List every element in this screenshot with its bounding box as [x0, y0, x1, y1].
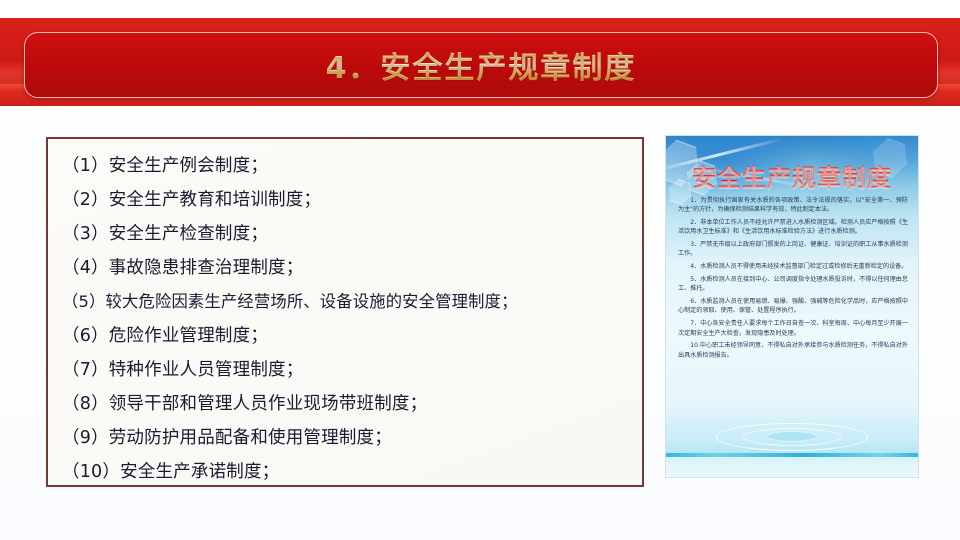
list-item: （9）劳动防护用品配备和使用管理制度； [62, 421, 642, 455]
list-item: （3）安全生产检查制度； [62, 217, 642, 251]
ripple-ring [767, 431, 817, 442]
slide-canvas: 4．安全生产规章制度 （1）安全生产例会制度； （2）安全生产教育和培训制度； … [0, 0, 960, 540]
page-title: 4．安全生产规章制度 [326, 43, 637, 87]
header-title-plate: 4．安全生产规章制度 [24, 32, 938, 98]
poster-body-text: 1．为贯彻执行国家有关水质的各项政策、法令法规的落实，以"安全第一、预防为主"的… [678, 196, 908, 363]
list-item: （1）安全生产例会制度； [62, 149, 642, 183]
poster-paragraph: 2．非本单位工作人员不经允许严禁进入水质检测区域。检测人员应严格按照《生活饮用水… [678, 218, 908, 237]
list-item: （10）安全生产承诺制度； [62, 455, 642, 489]
content-box: （1）安全生产例会制度； （2）安全生产教育和培训制度； （3）安全生产检查制度… [46, 137, 644, 487]
poster-title: 安全生产规章制度 [666, 158, 918, 193]
policy-list: （1）安全生产例会制度； （2）安全生产教育和培训制度； （3）安全生产检查制度… [48, 139, 642, 489]
list-item: （8）领导干部和管理人员作业现场带班制度； [62, 387, 642, 421]
poster-paragraph: 5．水质检测人员在接到中心、公司调度指令处理水质投诉时，不得以任何理由怠工、推托… [678, 275, 908, 294]
list-item: （2）安全生产教育和培训制度； [62, 183, 642, 217]
poster-paragraph: 3．严禁无市级以上政府部门颁发的上岗证、健康证、培训证的职工从事水质检测工作。 [678, 240, 908, 259]
poster-paragraph: 10.中心职工未经领导同意，不得私自对外承接参与水质检测任务，不得私自对外出具水… [678, 341, 908, 360]
list-item: （7）特种作业人员管理制度； [62, 353, 642, 387]
list-item: （5）较大危险因素生产经营场所、设备设施的安全管理制度； [62, 285, 642, 319]
water-base [666, 457, 918, 477]
poster-paragraph: 1．为贯彻执行国家有关水质的各项政策、法令法规的落实，以"安全第一、预防为主"的… [678, 196, 908, 215]
poster-paragraph: 6．水质监测人员在使用易燃、易爆、强酸、强碱等危险化学品时，应严格按照中心制定的… [678, 297, 908, 316]
list-item: （6）危险作业管理制度； [62, 319, 642, 353]
poster-paragraph: 4．水质检测人员不得使用未经技术监督部门检定过或检修后无重新检定的设备。 [678, 262, 908, 271]
water-ripple-graphic [666, 413, 918, 477]
poster-paragraph: 7．中心各安全责任人要求每个工作日自查一次、科室每周、中心每月至少开展一次定期安… [678, 319, 908, 338]
poster-image: 安全生产规章制度 1．为贯彻执行国家有关水质的各项政策、法令法规的落实，以"安全… [666, 136, 918, 477]
list-item: （4）事故隐患排查治理制度； [62, 251, 642, 285]
